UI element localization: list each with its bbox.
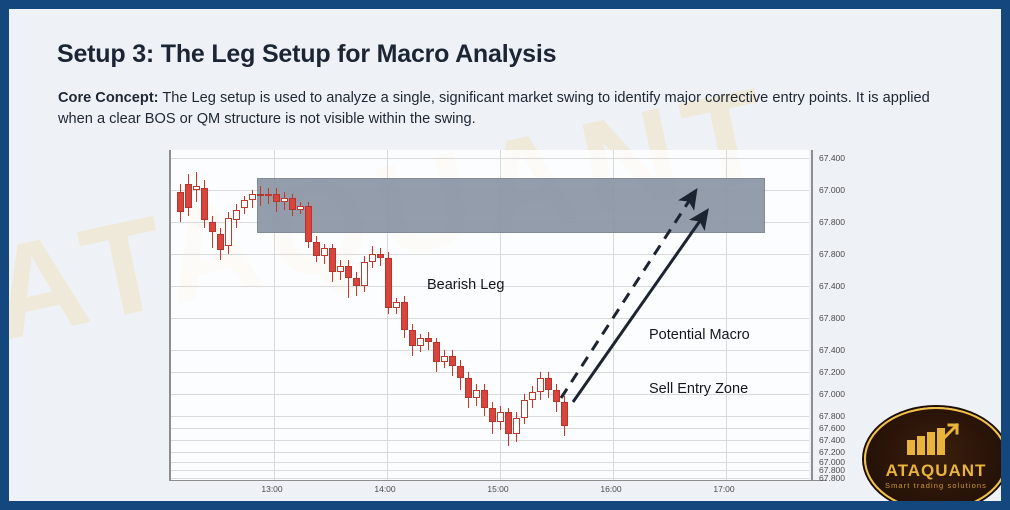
candle-body bbox=[177, 192, 184, 212]
candlestick bbox=[249, 150, 256, 480]
candle-body bbox=[369, 254, 376, 262]
ataquant-logo: ATAQUANT Smart trading solutions bbox=[864, 407, 1001, 501]
candle-body bbox=[513, 418, 520, 434]
candlestick bbox=[273, 150, 280, 480]
candle-body bbox=[345, 266, 352, 278]
y-axis-tick-label: 67.800 bbox=[819, 217, 845, 227]
candle-body bbox=[401, 302, 408, 330]
annotation-line-1: Potential Macro bbox=[649, 326, 750, 344]
candle-body bbox=[505, 412, 512, 434]
candle-body bbox=[529, 392, 536, 400]
price-chart: 67.40067.00067.80067.80067.40067.80067.4… bbox=[169, 150, 829, 496]
candle-body bbox=[409, 330, 416, 346]
candle-body bbox=[201, 188, 208, 220]
candle-body bbox=[497, 412, 504, 422]
candlestick bbox=[545, 150, 552, 480]
candle-wick bbox=[260, 186, 261, 206]
candle-body bbox=[305, 206, 312, 242]
candlestick bbox=[337, 150, 344, 480]
candlestick bbox=[369, 150, 376, 480]
candle-body bbox=[273, 194, 280, 202]
candlestick bbox=[177, 150, 184, 480]
candle-body bbox=[297, 206, 304, 210]
candle-body bbox=[257, 194, 264, 196]
candlestick bbox=[377, 150, 384, 480]
candlestick bbox=[257, 150, 264, 480]
candle-body bbox=[353, 278, 360, 286]
candlestick bbox=[201, 150, 208, 480]
candlestick bbox=[209, 150, 216, 480]
candle-body bbox=[361, 262, 368, 286]
candle-body bbox=[185, 184, 192, 208]
candlestick bbox=[185, 150, 192, 480]
annotation-macro-sell-zone: Potential Macro Sell Entry Zone bbox=[649, 290, 750, 434]
y-axis-tick-label: 67.400 bbox=[819, 281, 845, 291]
candle-body bbox=[289, 198, 296, 210]
candle-body bbox=[225, 218, 232, 246]
candle-body bbox=[337, 266, 344, 272]
candlestick bbox=[225, 150, 232, 480]
y-axis-tick-label: 67.800 bbox=[819, 249, 845, 259]
candlestick bbox=[393, 150, 400, 480]
y-axis-tick-label: 67.800 bbox=[819, 473, 845, 483]
candlestick bbox=[449, 150, 456, 480]
bar-chart-arrow-icon bbox=[905, 423, 967, 457]
candle-body bbox=[425, 338, 432, 342]
candlestick bbox=[529, 150, 536, 480]
y-axis-tick-label: 67.200 bbox=[819, 447, 845, 457]
x-axis-tick-label: 14:00 bbox=[374, 484, 395, 494]
page-title: Setup 3: The Leg Setup for Macro Analysi… bbox=[57, 40, 556, 69]
core-concept-paragraph: Core Concept: The Leg setup is used to a… bbox=[58, 88, 938, 130]
candlestick bbox=[409, 150, 416, 480]
candle-body bbox=[313, 242, 320, 256]
candle-body bbox=[321, 248, 328, 256]
candle-body bbox=[553, 390, 560, 402]
candlestick bbox=[401, 150, 408, 480]
candlestick bbox=[521, 150, 528, 480]
candle-body bbox=[329, 248, 336, 272]
candle-body bbox=[193, 186, 200, 190]
candlestick bbox=[233, 150, 240, 480]
candlestick bbox=[313, 150, 320, 480]
candle-body bbox=[393, 302, 400, 308]
x-axis-tick-label: 17:00 bbox=[713, 484, 734, 494]
candlestick bbox=[465, 150, 472, 480]
candlestick bbox=[537, 150, 544, 480]
y-axis-line bbox=[811, 150, 813, 480]
candlestick bbox=[457, 150, 464, 480]
candlestick bbox=[217, 150, 224, 480]
candle-body bbox=[521, 400, 528, 418]
candlestick bbox=[513, 150, 520, 480]
x-axis-line bbox=[169, 480, 827, 481]
candle-body bbox=[457, 366, 464, 378]
candle-body bbox=[265, 194, 272, 196]
candlestick bbox=[193, 150, 200, 480]
y-axis-tick-label: 67.600 bbox=[819, 423, 845, 433]
candlestick bbox=[361, 150, 368, 480]
candlestick bbox=[561, 150, 568, 480]
candle-body bbox=[473, 390, 480, 398]
candle-body bbox=[209, 222, 216, 232]
y-axis-tick-label: 67.400 bbox=[819, 153, 845, 163]
candle-body bbox=[281, 198, 288, 202]
candle-body bbox=[537, 378, 544, 392]
y-axis-tick-label: 67.400 bbox=[819, 435, 845, 445]
y-axis-tick-label: 67.800 bbox=[819, 411, 845, 421]
annotation-line-2: Sell Entry Zone bbox=[649, 380, 750, 398]
candlestick bbox=[329, 150, 336, 480]
candlestick bbox=[417, 150, 424, 480]
candle-body bbox=[481, 390, 488, 408]
candle-body bbox=[433, 342, 440, 362]
candlestick bbox=[321, 150, 328, 480]
candle-body bbox=[217, 234, 224, 250]
x-axis-tick-label: 15:00 bbox=[487, 484, 508, 494]
core-concept-body: The Leg setup is used to analyze a singl… bbox=[58, 90, 930, 127]
candlestick bbox=[489, 150, 496, 480]
y-axis-tick-label: 67.200 bbox=[819, 367, 845, 377]
candlestick bbox=[385, 150, 392, 480]
y-axis-tick-label: 67.400 bbox=[819, 345, 845, 355]
logo-tagline: Smart trading solutions bbox=[866, 481, 1001, 490]
candlestick bbox=[289, 150, 296, 480]
candlestick bbox=[305, 150, 312, 480]
candlestick bbox=[505, 150, 512, 480]
candlestick bbox=[441, 150, 448, 480]
candle-body bbox=[233, 210, 240, 220]
candle-body bbox=[417, 338, 424, 346]
candlestick bbox=[297, 150, 304, 480]
candlestick bbox=[553, 150, 560, 480]
y-axis-tick-label: 67.800 bbox=[819, 313, 845, 323]
candle-body bbox=[385, 258, 392, 308]
candle-body bbox=[561, 402, 568, 426]
candlestick bbox=[281, 150, 288, 480]
candle-body bbox=[377, 254, 384, 258]
y-axis-tick-label: 67.000 bbox=[819, 185, 845, 195]
candle-wick bbox=[268, 188, 269, 204]
candle-wick bbox=[212, 216, 213, 248]
y-axis-tick-label: 67.000 bbox=[819, 389, 845, 399]
annotation-bearish-leg: Bearish Leg bbox=[427, 276, 504, 294]
candle-body bbox=[545, 378, 552, 390]
candle-body bbox=[249, 194, 256, 200]
candlestick bbox=[265, 150, 272, 480]
candle-body bbox=[241, 200, 248, 208]
x-axis-tick-label: 13:00 bbox=[261, 484, 282, 494]
candlestick bbox=[481, 150, 488, 480]
core-concept-label: Core Concept: bbox=[58, 90, 159, 106]
x-axis-tick-label: 16:00 bbox=[600, 484, 621, 494]
candlestick bbox=[497, 150, 504, 480]
candlestick bbox=[425, 150, 432, 480]
candlestick bbox=[473, 150, 480, 480]
candle-body bbox=[441, 356, 448, 362]
candle-body bbox=[489, 408, 496, 422]
candle-body bbox=[465, 378, 472, 398]
slide: ATAQUANT Setup 3: The Leg Setup for Macr… bbox=[9, 9, 1001, 501]
candle-body bbox=[449, 356, 456, 366]
candlestick bbox=[345, 150, 352, 480]
candlestick bbox=[241, 150, 248, 480]
candlestick bbox=[353, 150, 360, 480]
logo-name: ATAQUANT bbox=[866, 461, 1001, 481]
candlestick bbox=[433, 150, 440, 480]
